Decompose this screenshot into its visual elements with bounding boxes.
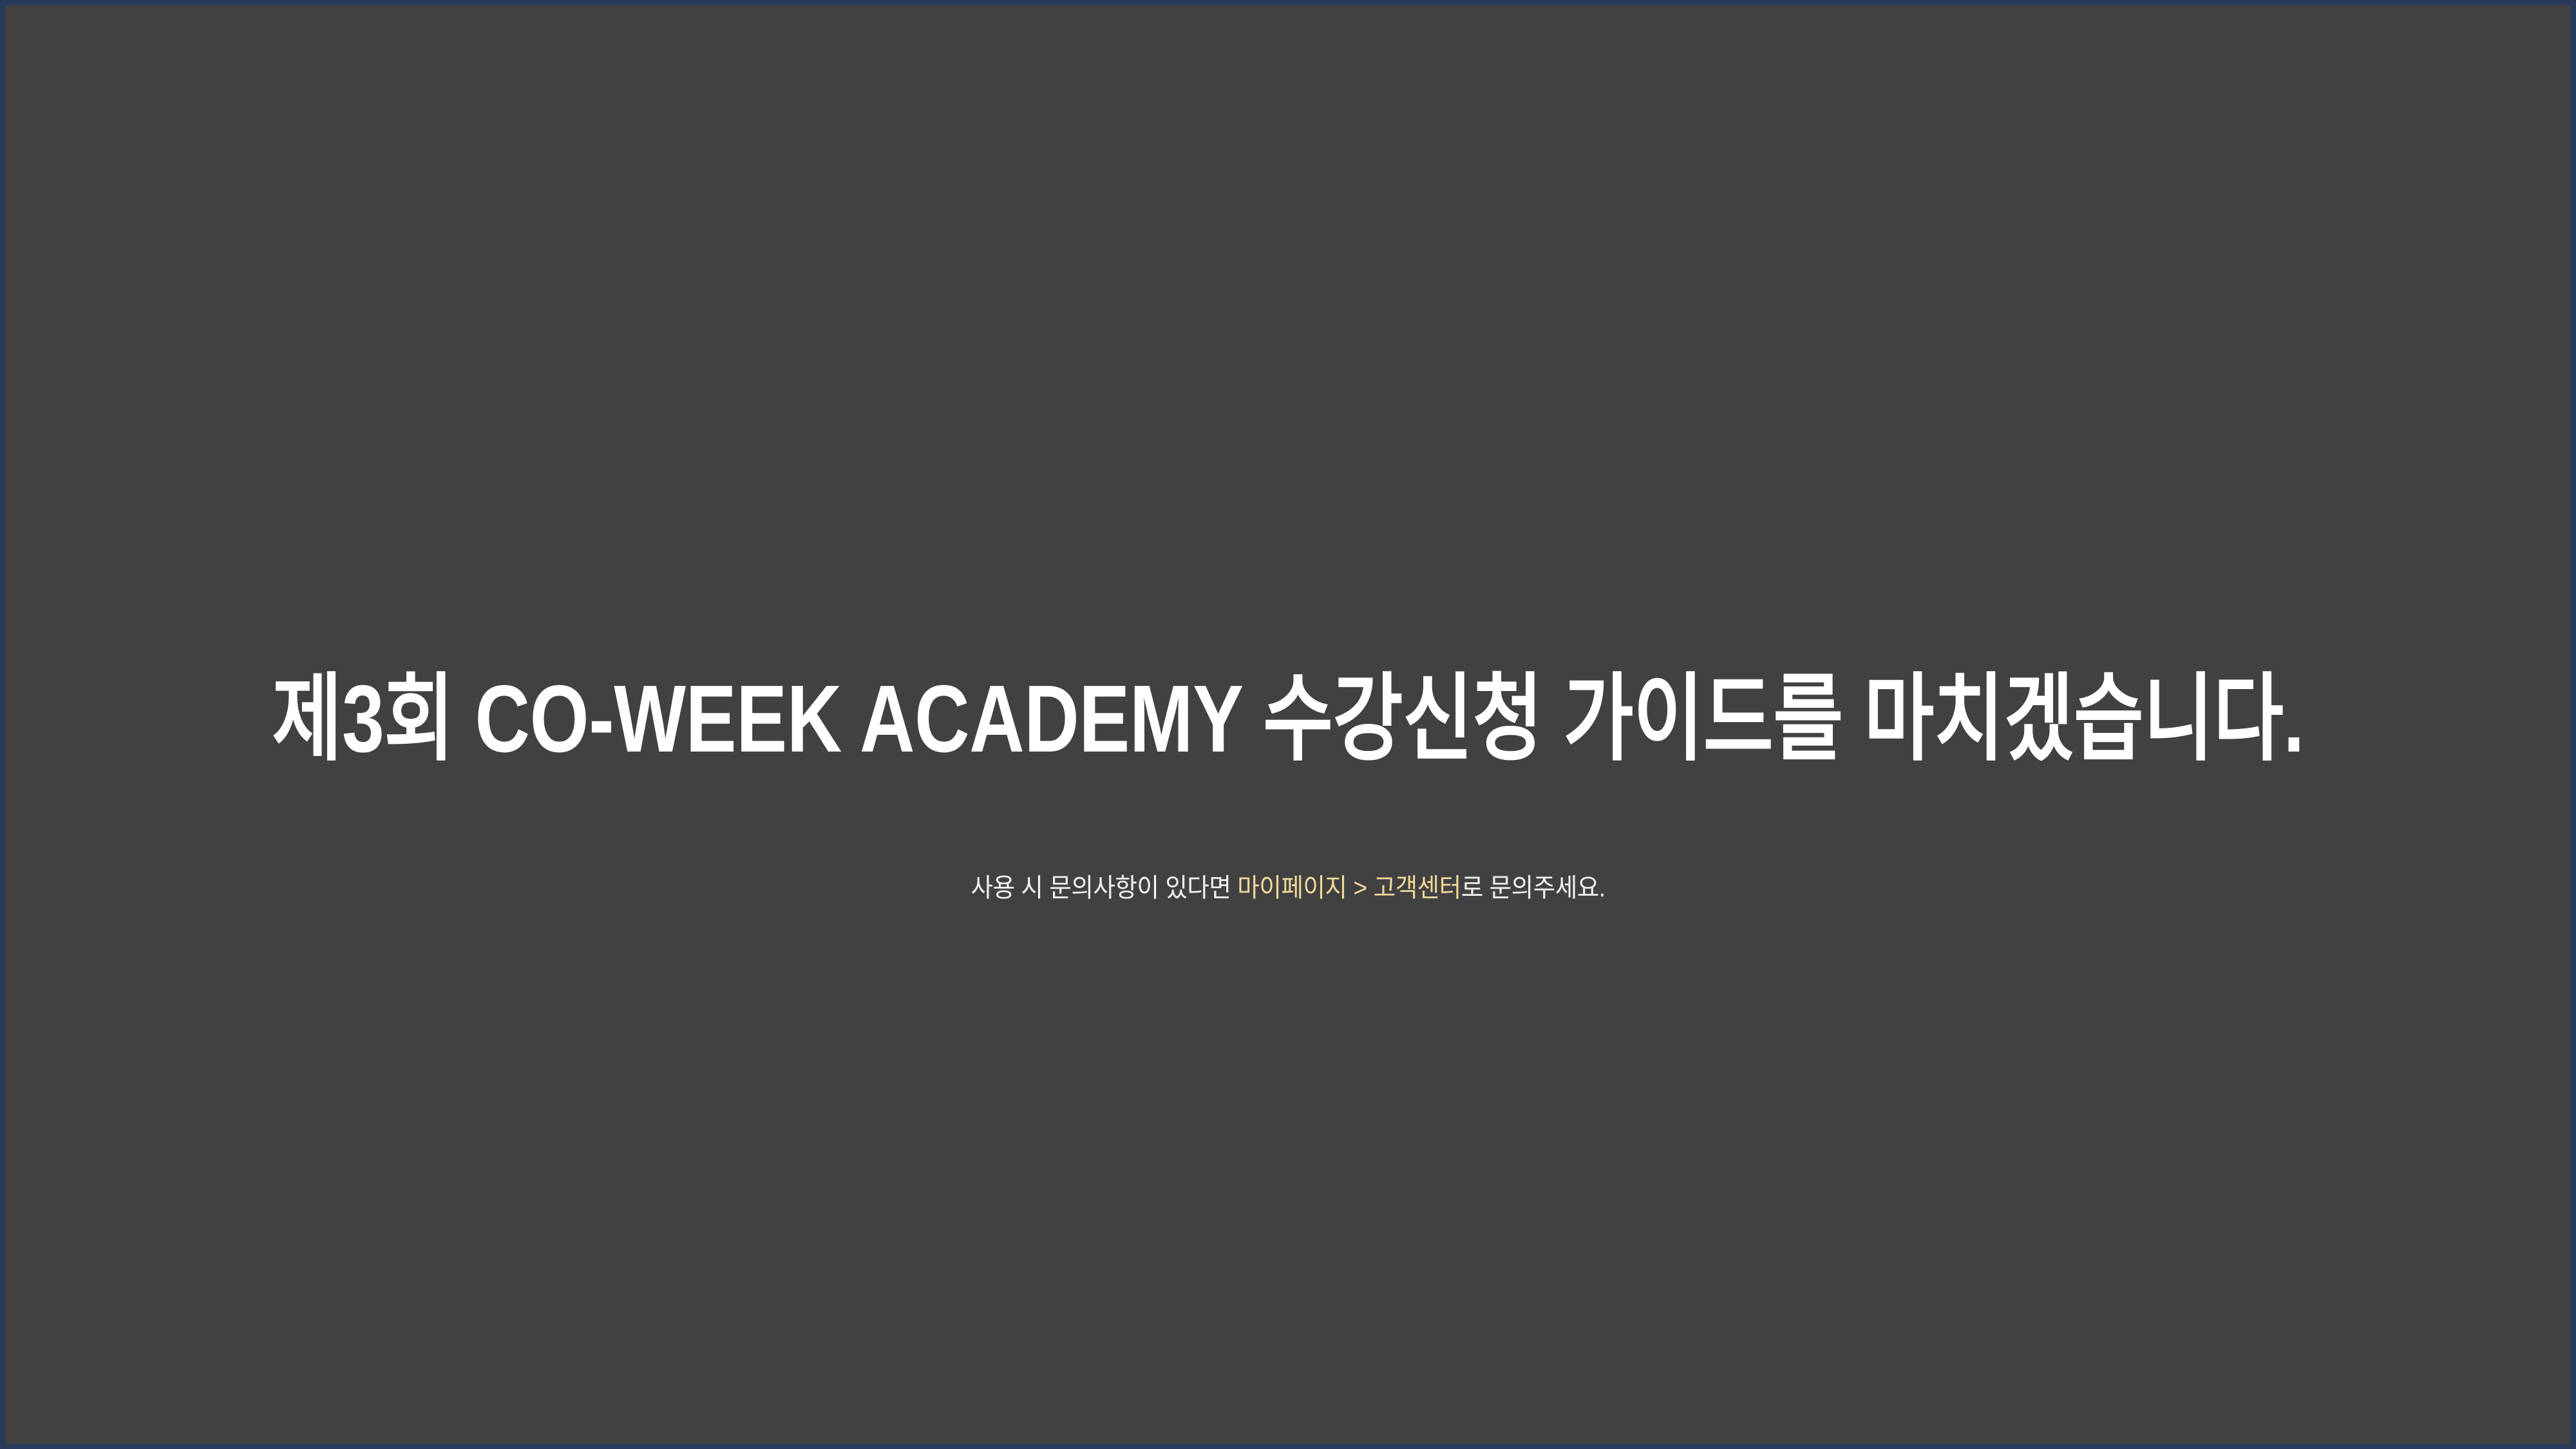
support-contact-note: 사용 시 문의사항이 있다면 마이페이지 > 고객센터로 문의주세요. xyxy=(971,875,1605,901)
page-title: 제3회 CO-WEEK ACADEMY 수강신청 가이드를 마치겠습니다. xyxy=(272,672,2304,767)
support-note-trail: 로 문의주세요. xyxy=(1461,874,1605,902)
support-note-path-link[interactable]: 마이페이지 > 고객센터 xyxy=(1237,874,1461,902)
slide-text-block: 제3회 CO-WEEK ACADEMY 수강신청 가이드를 마치겠습니다. 사용… xyxy=(5,672,2571,901)
slide-frame: 제3회 CO-WEEK ACADEMY 수강신청 가이드를 마치겠습니다. 사용… xyxy=(0,0,2576,1449)
support-note-lead: 사용 시 문의사항이 있다면 xyxy=(971,874,1237,902)
